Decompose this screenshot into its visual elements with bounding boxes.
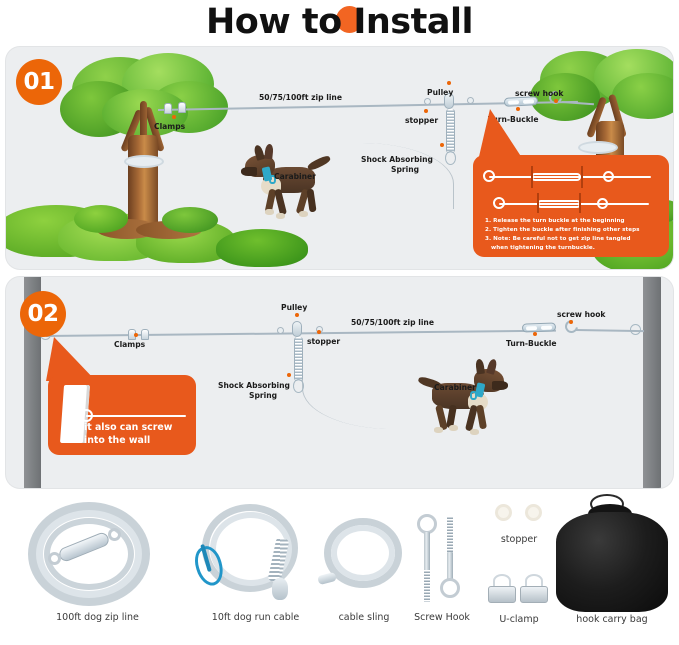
u-clamp-body (488, 586, 516, 603)
dog-leash-cable (302, 369, 434, 429)
tree-strap (578, 141, 618, 154)
tree-base-foliage (162, 207, 218, 233)
spring-ring-icon (293, 379, 304, 393)
dog-tail (306, 154, 331, 172)
label-zip-line-length: 50/75/100ft zip line (259, 93, 342, 102)
dog-muzzle (241, 167, 257, 176)
clamp-icon (164, 103, 172, 114)
label-turn-buckle: Turn-Buckle (506, 339, 557, 348)
product-image (548, 492, 676, 614)
spring-ring-icon (445, 151, 456, 165)
product-carry-bag: hook carry bag (548, 492, 676, 625)
dog-illustration (241, 143, 331, 223)
label-anchor-dot (440, 143, 444, 147)
callout-instruction-2: 2. Tighten the buckle after finishing ot… (485, 226, 640, 235)
product-caption: 100ft dog zip line (10, 612, 185, 623)
title-part-before: How to (206, 2, 353, 42)
label-clamps: Clamps (114, 340, 145, 349)
stopper-ring (525, 504, 542, 521)
dog-muzzle (492, 381, 508, 390)
screw-shaft (424, 532, 430, 574)
label-anchor-dot (287, 373, 291, 377)
wall-column-right (643, 277, 661, 488)
dog-leg (476, 405, 487, 430)
label-stopper: stopper (405, 116, 438, 125)
stopper-icon (424, 98, 431, 105)
sling-ferrule (317, 572, 337, 585)
label-anchor-dot (172, 115, 176, 119)
callout-diagram-eye (493, 197, 505, 209)
product-zip-line: 100ft dog zip line (10, 496, 185, 623)
callout-text-line-1: it also can screw (84, 422, 172, 435)
screw-thread (424, 570, 430, 602)
callout-instruction-1: 1. Release the turn buckle at the beginn… (485, 217, 640, 226)
callout-instruction-3-cont: when tightening the turnbuckle. (485, 244, 640, 253)
label-carabiner: Carabiner (274, 172, 316, 181)
u-clamp-body (520, 586, 548, 603)
tree-base-foliage (74, 205, 128, 233)
clamp-icon (178, 102, 186, 113)
label-anchor-dot (533, 332, 537, 336)
page-title-bar: How to Install (0, 0, 679, 44)
callout-instruction-list: 1. Release the turn buckle at the beginn… (485, 217, 640, 253)
wall-eye-hook-icon (630, 324, 641, 335)
turnbuckle-eye (108, 528, 121, 541)
callout-panel-02: it also can screw into the wall (48, 375, 196, 455)
bag-body (556, 512, 668, 612)
label-shock-absorbing-spring-line2: Spring (249, 391, 277, 400)
turnbuckle-eye (48, 552, 61, 565)
callout-text-line-2: into the wall (84, 435, 172, 448)
stopper-icon (277, 327, 284, 334)
cable-coil (331, 525, 395, 581)
callout-diagram-eye (483, 170, 495, 182)
callout-diagram-arrow (579, 193, 581, 213)
callout-text-block: it also can screw into the wall (84, 422, 172, 447)
dog-paw (470, 429, 479, 435)
callout-diagram-buckle (531, 173, 581, 181)
callout-diagram-buckle (537, 200, 581, 208)
callout-diagram-arrow (531, 166, 533, 188)
label-stopper: stopper (307, 337, 340, 346)
stopper-ring (495, 504, 512, 521)
label-anchor-dot (447, 81, 451, 85)
shock-absorbing-spring-icon (446, 109, 455, 153)
spring-swivel (272, 578, 288, 600)
screw-shaft (447, 552, 453, 580)
label-anchor-dot (134, 333, 138, 337)
label-anchor-dot (295, 313, 299, 317)
callout-tail (478, 109, 524, 161)
callout-diagram-eye (603, 171, 614, 182)
label-zip-line-length: 50/75/100ft zip line (351, 318, 434, 327)
screw-eye (417, 514, 437, 534)
label-anchor-dot (554, 99, 558, 103)
install-step-panel-02: Clamps Pulley stopper 50/75/100ft zip li… (6, 277, 673, 488)
callout-panel-01: 1. Release the turn buckle at the beginn… (473, 155, 669, 257)
label-pulley: Pulley (427, 88, 453, 97)
step-badge-01: 01 (16, 59, 62, 105)
label-anchor-dot (424, 109, 428, 113)
label-shock-absorbing-spring-line1: Shock Absorbing (218, 381, 290, 390)
product-caption: hook carry bag (548, 614, 676, 625)
clamp-icon (141, 329, 149, 340)
dog-paw (299, 211, 308, 217)
dog-ear (264, 144, 274, 160)
dog-paw (265, 209, 274, 215)
turn-buckle-icon (522, 322, 556, 332)
label-pulley: Pulley (281, 303, 307, 312)
label-shock-absorbing-spring-line1: Shock Absorbing (361, 155, 433, 164)
dog-paw (276, 213, 285, 219)
callout-diagram-arrow (581, 166, 583, 188)
dog-ear (475, 359, 485, 375)
step-badge-02: 02 (20, 291, 66, 337)
label-anchor-dot (317, 330, 321, 334)
dog-leg (306, 189, 316, 213)
label-screw-hook: screw hook (515, 89, 563, 98)
tree-canopy (612, 73, 673, 119)
stopper-icon (467, 97, 474, 104)
title-part-after: Install (353, 2, 473, 42)
callout-diagram-eye (80, 409, 93, 422)
shock-absorbing-spring-icon (294, 337, 303, 381)
screw-thread (447, 516, 453, 554)
dog-paw (449, 425, 458, 431)
label-carabiner: Carabiner (434, 383, 476, 392)
label-clamps: Clamps (154, 122, 185, 131)
page-title: How to Install (206, 2, 473, 42)
label-shock-absorbing-spring-line2: Spring (391, 165, 419, 174)
callout-diagram-arrow (537, 193, 539, 213)
label-anchor-dot (569, 320, 573, 324)
dog-illustration (418, 359, 510, 441)
callout-instruction-3: 3. Note: Be careful not to get zip line … (485, 235, 640, 244)
callout-diagram-eye (597, 198, 608, 209)
product-parts-row: 100ft dog zip line 10ft dog run cable ca… (0, 492, 679, 645)
pulley-icon (292, 321, 302, 337)
install-step-panel-01: Clamps 50/75/100ft zip line Carabiner Pu… (6, 47, 673, 269)
dog-paw (434, 427, 443, 433)
product-image (10, 496, 185, 612)
callout-diagram-line (86, 415, 186, 417)
label-screw-hook: screw hook (557, 310, 605, 319)
tree-strap (124, 155, 164, 168)
screw-eye (440, 578, 460, 598)
